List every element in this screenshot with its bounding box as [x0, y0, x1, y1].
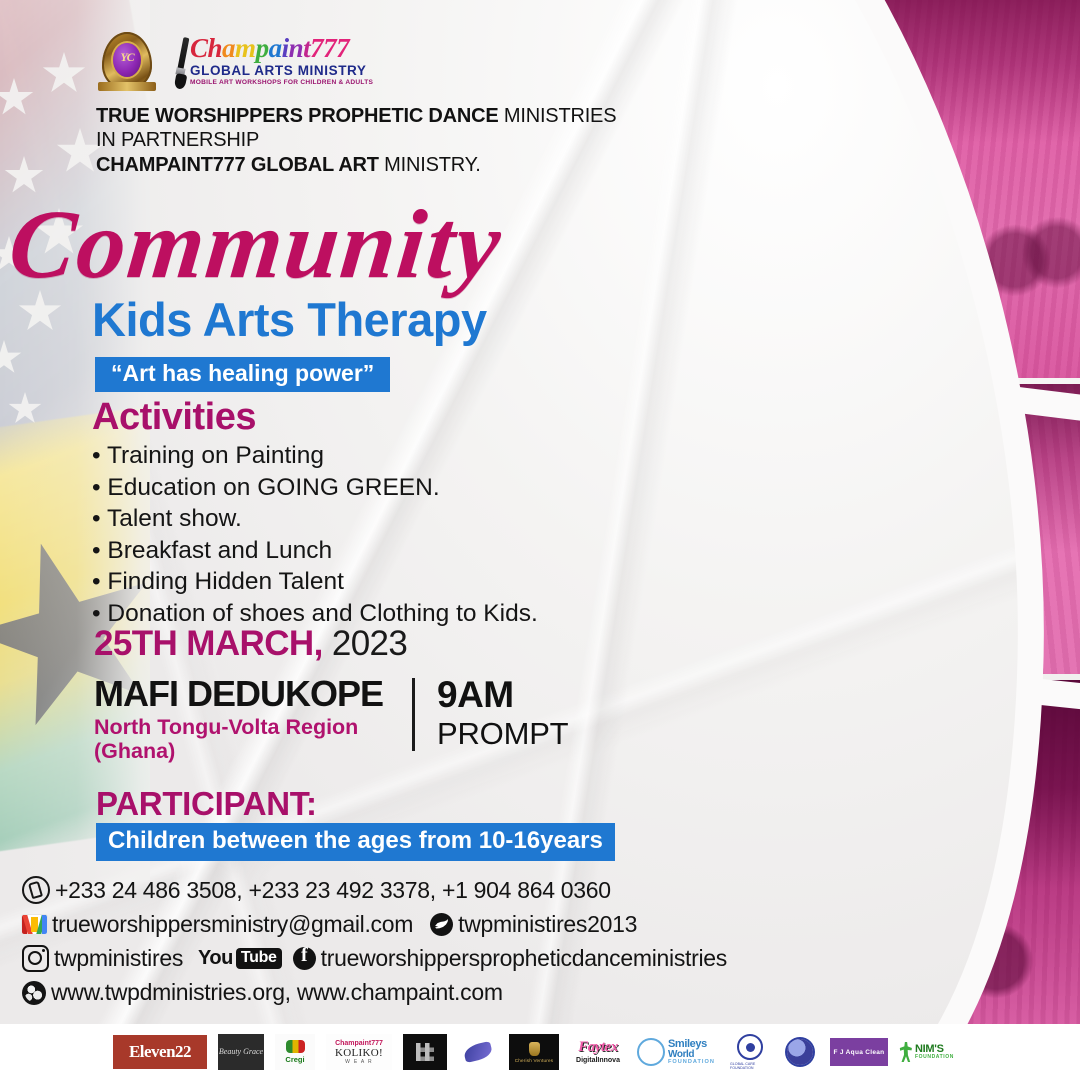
sponsor-bar: Eleven22 Beauty Grace Cregi Champaint777…: [0, 1024, 1080, 1080]
sponsor-eleven22-label: Eleven22: [113, 1035, 207, 1069]
youtube-you-text: You: [198, 947, 233, 970]
champaint-subtagline: MOBILE ART WORKSHOPS FOR CHILDREN & ADUL…: [190, 80, 373, 87]
organizer-line-3-bold: CHAMPAINT777 GLOBAL ART: [96, 154, 379, 176]
venue-country: (Ghana): [94, 739, 412, 763]
vertical-divider: [412, 678, 415, 751]
sponsor-logo-globe-circle: [781, 1033, 819, 1071]
collage-inner: [620, 0, 1080, 1026]
activities-heading: Activities: [92, 396, 256, 439]
sponsor-beauty-label: Beauty Grace: [218, 1034, 264, 1070]
organizer-line-3: CHAMPAINT777 GLOBAL ART MINISTRY.: [96, 153, 686, 177]
facebook-handle[interactable]: trueworshipperspropheticdanceministries: [321, 945, 727, 972]
koliko-mid-text: KOLIKO!: [335, 1047, 383, 1059]
list-item: • Talent show.: [92, 503, 538, 535]
phone-icon: [22, 876, 50, 904]
list-item: • Breakfast and Lunch: [92, 535, 538, 567]
tagline-banner: “Art has healing power”: [95, 357, 390, 392]
wordmark-letter: h: [208, 35, 223, 62]
sponsor-logo-beauty-salon: Beauty Grace: [218, 1033, 264, 1071]
champaint-wordmark-block: Champaint777 GLOBAL ARTS MINISTRY MOBILE…: [190, 35, 373, 86]
wordmark-letter: i: [282, 35, 289, 62]
champaint-tagline: GLOBAL ARTS MINISTRY: [190, 64, 373, 78]
contact-row-email: trueworshippersministry@gmail.com twpmin…: [22, 911, 762, 938]
event-date-bold: 25TH MARCH,: [94, 624, 323, 663]
organizer-line-1: TRUE WORSHIPPERS PROPHETIC DANCE MINISTR…: [96, 104, 686, 128]
venue-name: MAFI DEDUKOPE: [94, 676, 412, 712]
organizer-line-1-light: MINISTRIES: [499, 105, 617, 127]
nims-figure-icon: [899, 1042, 913, 1062]
event-date: 25TH MARCH, 2023: [94, 624, 407, 664]
page-title: Kids Arts Therapy: [92, 296, 487, 343]
crest-scroll-icon: [98, 82, 156, 91]
youtube-tube-text: Tube: [236, 948, 282, 969]
wordmark-letter: 7: [323, 35, 336, 62]
contact-row-website: www.twpdministries.org, www.champaint.co…: [22, 979, 762, 1006]
grid-icon: [416, 1043, 434, 1061]
champaint-logo: Champaint777 GLOBAL ARTS MINISTRY MOBILE…: [172, 35, 373, 91]
swirl-icon: [462, 1041, 493, 1063]
blue-ring-icon: [737, 1034, 763, 1060]
sponsor-logo-cregi: Cregi: [275, 1033, 315, 1071]
twitter-handle[interactable]: twpministires2013: [458, 911, 637, 938]
wordmark-letter: 7: [310, 35, 323, 62]
crest-monogram: YC: [113, 50, 141, 65]
smileys-line3: FOUNDATION: [668, 1060, 715, 1066]
koliko-bottom-text: W E A R: [345, 1059, 373, 1065]
flag-star: [4, 156, 44, 196]
phone-numbers[interactable]: +233 24 486 3508, +233 23 492 3378, +1 9…: [55, 877, 611, 904]
event-date-year: 2023: [323, 624, 408, 663]
sponsor-logo-koliko-wear: Champaint777 KOLIKO! W E A R: [326, 1033, 392, 1071]
facebook-icon: [293, 947, 316, 970]
photo-kids-running: [620, 384, 1080, 674]
participant-label: PARTICIPANT:: [96, 785, 317, 823]
organizer-lines: TRUE WORSHIPPERS PROPHETIC DANCE MINISTR…: [96, 104, 686, 177]
contact-row-phone: +233 24 486 3508, +233 23 492 3378, +1 9…: [22, 876, 762, 904]
ministry-crest-logo: YC: [96, 30, 158, 96]
cregi-mark-icon: [286, 1040, 305, 1053]
gold-crest-icon: [529, 1042, 540, 1056]
logo-row: YC Champaint777 GLOBAL ARTS MINISTRY MOB…: [96, 30, 686, 96]
youtube-icon[interactable]: You Tube: [198, 947, 282, 970]
champaint-wordmark: Champaint777: [190, 35, 373, 62]
gmail-icon: [22, 915, 47, 934]
wordmark-letter: C: [190, 35, 208, 62]
sponsor-logo-dark-grid: [403, 1033, 447, 1071]
globe-icon: [22, 981, 46, 1005]
wordmark-letter: p: [256, 35, 269, 62]
wordmark-letter: a: [222, 35, 235, 62]
sponsor-logo-blue-ring: GLOBAL CARE FOUNDATION: [730, 1033, 770, 1071]
sponsor-logo-swirl: [458, 1033, 498, 1071]
fj-aqua-label: F J Aqua Clean: [834, 1049, 885, 1056]
sponsor-logo-smileys-world: Smileys World FOUNDATION: [637, 1033, 719, 1071]
time-info: 9AM PROMPT: [437, 676, 568, 763]
organizer-line-2-text: IN PARTNERSHIP: [96, 129, 259, 151]
list-item: • Training on Painting: [92, 440, 538, 472]
venue-region: North Tongu-Volta Region: [94, 715, 412, 739]
flag-star: [42, 52, 86, 96]
activities-list: • Training on Painting • Education on GO…: [92, 440, 538, 630]
list-item: • Education on GOING GREEN.: [92, 472, 538, 504]
community-script-title: Community: [5, 196, 615, 294]
wordmark-letter: 7: [336, 35, 349, 62]
instagram-icon: [22, 945, 49, 972]
smiley-ring-icon: [637, 1038, 665, 1066]
wordmark-letter: n: [289, 35, 304, 62]
participant-detail-banner: Children between the ages from 10-16year…: [96, 823, 615, 861]
wordmark-letter: a: [269, 35, 282, 62]
photo-collage: [620, 0, 1080, 1026]
contact-block: +233 24 486 3508, +233 23 492 3378, +1 9…: [22, 876, 762, 1013]
photo-leader-and-kids: [620, 0, 1080, 378]
faytex-sublabel: DigitalInnova: [576, 1057, 620, 1064]
sponsor-logo-fj-aqua-clean: F J Aqua Clean: [830, 1033, 888, 1071]
globe-circle-icon: [787, 1039, 813, 1065]
paintbrush-icon: [172, 37, 188, 91]
photo-separator: [560, 629, 1080, 722]
flag-star: [0, 340, 22, 376]
sponsor-crest-label: Cherish Ventures: [515, 1058, 553, 1063]
organizer-line-3-light: MINISTRY.: [379, 154, 481, 176]
website-urls[interactable]: www.twpdministries.org, www.champaint.co…: [51, 979, 503, 1006]
koliko-top-text: Champaint777: [335, 1040, 383, 1047]
contact-row-social: twpministires You Tube trueworshipperspr…: [22, 945, 762, 972]
flag-star: [0, 78, 34, 118]
event-time-note: PROMPT: [437, 716, 568, 752]
blue-ring-caption: GLOBAL CARE FOUNDATION: [730, 1062, 770, 1070]
sponsor-logo-gold-crest: Cherish Ventures: [509, 1033, 559, 1071]
venue-time-block: MAFI DEDUKOPE North Tongu-Volta Region (…: [94, 676, 624, 763]
organizer-line-2: IN PARTNERSHIP: [96, 128, 686, 152]
poster-header: YC Champaint777 GLOBAL ARTS MINISTRY MOB…: [96, 30, 686, 177]
sponsor-logo-eleven22: Eleven22: [113, 1033, 207, 1071]
instagram-handle[interactable]: twpministires: [54, 945, 183, 972]
venue-info: MAFI DEDUKOPE North Tongu-Volta Region (…: [94, 676, 412, 763]
wordmark-letter: t: [303, 35, 310, 62]
wordmark-letter: m: [235, 35, 256, 62]
faytex-label: Faytex: [578, 1040, 618, 1055]
nims-line2: FOUNDATION: [915, 1055, 954, 1060]
event-time: 9AM: [437, 676, 568, 713]
organizer-line-1-bold: TRUE WORSHIPPERS PROPHETIC DANCE: [96, 105, 499, 127]
sponsor-logo-faytex: Faytex DigitalInnova: [570, 1033, 626, 1071]
sponsor-cregi-label: Cregi: [285, 1055, 304, 1064]
email-address[interactable]: trueworshippersministry@gmail.com: [52, 911, 413, 938]
sponsor-logo-nims-foundation: NIM'S FOUNDATION: [899, 1033, 967, 1071]
list-item: • Finding Hidden Talent: [92, 566, 538, 598]
poster-canvas: YC Champaint777 GLOBAL ARTS MINISTRY MOB…: [0, 0, 1080, 1080]
flag-star: [8, 392, 42, 426]
twitter-icon: [430, 913, 453, 936]
